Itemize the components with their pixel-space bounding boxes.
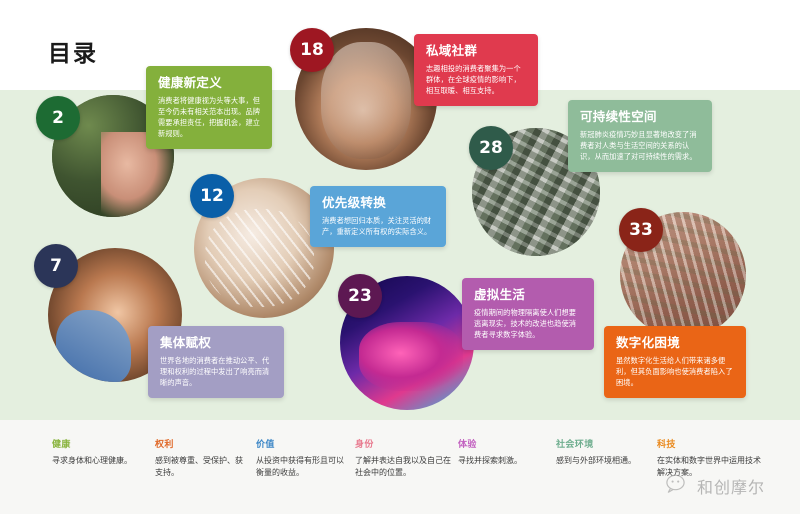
badge-number: 28: [479, 140, 503, 157]
legend-society: 社会环境 感到与外部环境相通。: [556, 437, 648, 467]
card-body: 消费者将健康视为头等大事，但至今仍未有相关范本出现。品牌需要承担责任，把握机会，…: [158, 95, 261, 140]
legend-identity: 身份 了解并表达自我以及自己在社会中的位置。: [355, 437, 451, 479]
wechat-icon: [666, 474, 692, 498]
legend-desc: 寻找并探索刺激。: [458, 455, 546, 467]
card-title: 虚拟生活: [474, 287, 583, 303]
badge-7[interactable]: 7: [34, 244, 78, 288]
contents-page: 目录 健康新定义 消费者将健康视为头等大事，但至今仍未有相关范本出现。品牌需要承…: [0, 0, 800, 514]
badge-2[interactable]: 2: [36, 96, 80, 140]
legend-technology: 科技 在实体和数字世界中运用技术解决方案。: [657, 437, 761, 479]
page-title: 目录: [48, 34, 98, 68]
legend-health: 健康 寻求身体和心理健康。: [52, 437, 148, 467]
legend-rights: 权利 感到被尊重、受保护、获支持。: [155, 437, 247, 479]
card-private-community[interactable]: 私域社群 志趣相投的消费者聚集为一个群体，在全球疫情的影响下，相互取暖、相互支持…: [414, 34, 538, 106]
badge-number: 12: [200, 188, 224, 205]
legend-desc: 寻求身体和心理健康。: [52, 455, 148, 467]
card-digital-dilemma[interactable]: 数字化困境 虽然数字化生活给人们带来诸多便利，但其负面影响也使消费者陷入了困境。: [604, 326, 746, 398]
watermark: 和创摩尔: [666, 474, 765, 498]
card-title: 可持续性空间: [580, 109, 701, 125]
card-body: 疫情期间的物理隔离使人们想要逃离现实，技术的改进也趋使消费者寻求数字体验。: [474, 307, 583, 340]
card-title: 数字化困境: [616, 335, 735, 351]
badge-number: 23: [348, 288, 372, 305]
card-title: 集体赋权: [160, 335, 273, 351]
card-body: 虽然数字化生活给人们带来诸多便利，但其负面影响也使消费者陷入了困境。: [616, 355, 735, 388]
legend-term: 身份: [355, 437, 451, 450]
legend-term: 价值: [256, 437, 346, 450]
legend-term: 科技: [657, 437, 761, 450]
watermark-text: 和创摩尔: [697, 474, 765, 498]
legend-value: 价值 从投资中获得有形且可以衡量的收益。: [256, 437, 346, 479]
badge-number: 7: [50, 258, 62, 275]
card-title: 优先级转换: [322, 195, 435, 211]
card-priority-shift[interactable]: 优先级转换 消费者想回归本质，关注灵活的财产，重新定义所有权的实际含义。: [310, 186, 446, 247]
badge-18[interactable]: 18: [290, 28, 334, 72]
badge-33[interactable]: 33: [619, 208, 663, 252]
card-body: 世界各地的消费者在推动公平、代理和权利的过程中发出了响亮而清晰的声音。: [160, 355, 273, 388]
badge-number: 33: [629, 222, 653, 239]
legend-desc: 感到与外部环境相通。: [556, 455, 648, 467]
legend-term: 社会环境: [556, 437, 648, 450]
badge-number: 18: [300, 42, 324, 59]
legend-row: 健康 寻求身体和心理健康。 权利 感到被尊重、受保护、获支持。 价值 从投资中获…: [0, 420, 800, 514]
badge-number: 2: [52, 110, 64, 127]
badge-23[interactable]: 23: [338, 274, 382, 318]
card-title: 健康新定义: [158, 75, 261, 91]
legend-experience: 体验 寻找并探索刺激。: [458, 437, 546, 467]
card-title: 私域社群: [426, 43, 527, 59]
card-body: 新冠肺炎疫情巧妙且显著地改变了消费者对人类与生活空间的关系的认识，从而加速了对可…: [580, 129, 701, 162]
badge-12[interactable]: 12: [190, 174, 234, 218]
legend-term: 健康: [52, 437, 148, 450]
card-body: 志趣相投的消费者聚集为一个群体，在全球疫情的影响下，相互取暖、相互支持。: [426, 63, 527, 96]
legend-desc: 从投资中获得有形且可以衡量的收益。: [256, 455, 346, 479]
card-virtual-life[interactable]: 虚拟生活 疫情期间的物理隔离使人们想要逃离现实，技术的改进也趋使消费者寻求数字体…: [462, 278, 594, 350]
card-collective-empowerment[interactable]: 集体赋权 世界各地的消费者在推动公平、代理和权利的过程中发出了响亮而清晰的声音。: [148, 326, 284, 398]
legend-desc: 感到被尊重、受保护、获支持。: [155, 455, 247, 479]
legend-term: 权利: [155, 437, 247, 450]
badge-28[interactable]: 28: [469, 126, 513, 170]
legend-term: 体验: [458, 437, 546, 450]
card-body: 消费者想回归本质，关注灵活的财产，重新定义所有权的实际含义。: [322, 215, 435, 237]
card-health-redefined[interactable]: 健康新定义 消费者将健康视为头等大事，但至今仍未有相关范本出现。品牌需要承担责任…: [146, 66, 272, 149]
legend-desc: 了解并表达自我以及自己在社会中的位置。: [355, 455, 451, 479]
card-sustainable-space[interactable]: 可持续性空间 新冠肺炎疫情巧妙且显著地改变了消费者对人类与生活空间的关系的认识，…: [568, 100, 712, 172]
